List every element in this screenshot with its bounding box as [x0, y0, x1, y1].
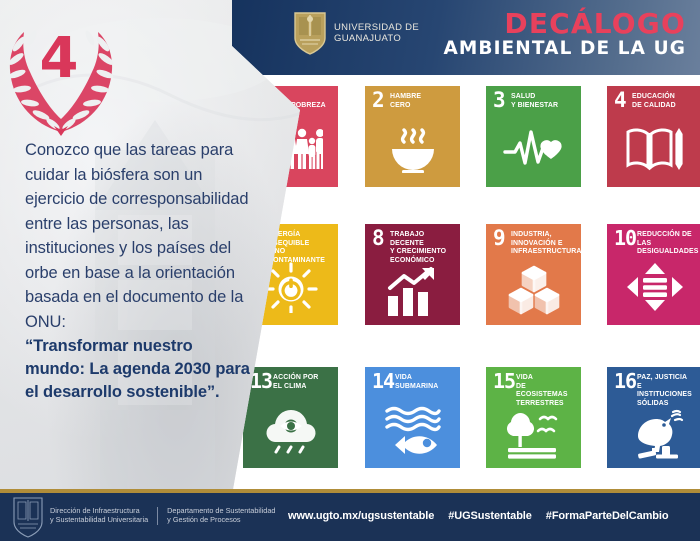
- sdg-label-line: REDUCCIÓN DE LAS: [637, 230, 695, 247]
- sdg-tile-10[interactable]: 10REDUCCIÓN DE LASDESIGUALDADES: [607, 224, 700, 325]
- footer-links: www.ugto.mx/ugsustentable #UGSustentable…: [288, 510, 669, 522]
- footer-hashtag-1[interactable]: #UGSustentable: [448, 510, 532, 522]
- body-paragraph: Conozco que las tareas para cuidar la bi…: [25, 141, 248, 331]
- heartbeat-icon: [486, 119, 581, 179]
- sdg-tile-label: VIDADE ECOSISTEMASTERRESTRES: [516, 373, 574, 407]
- sdg-tile-number: 9: [493, 228, 505, 249]
- footer-bar: Dirección de Infraestructura y Sustentab…: [0, 493, 700, 541]
- footer-dept-left-line1: Dirección de Infraestructura: [50, 506, 148, 515]
- sdg-tile-label: VIDASUBMARINA: [395, 373, 453, 390]
- title-main: DECÁLOGO: [443, 9, 686, 38]
- sdg-tile-2[interactable]: 2HAMBRECERO: [365, 86, 460, 187]
- sdg-tile-number: 10: [614, 228, 636, 249]
- sdg-label-line: DESIGUALDADES: [637, 247, 695, 256]
- sdg-label-line: SUBMARINA: [395, 382, 453, 391]
- sdg-label-line: CERO: [390, 101, 453, 110]
- footer-dept-left-line2: y Sustentabilidad Universitaria: [50, 515, 148, 524]
- sdg-tile-label: HAMBRECERO: [390, 92, 453, 109]
- footer-hashtag-2[interactable]: #FormaParteDelCambio: [546, 510, 669, 522]
- soup-bowl-icon: [365, 119, 460, 179]
- laurel-wreath-icon: [2, 14, 120, 140]
- footer-dept-right-line1: Departamento de Sustentabilidad: [167, 506, 275, 515]
- footer-dept-left: Dirección de Infraestructura y Sustentab…: [50, 506, 148, 525]
- sdg-label-line: TRABAJO DECENTE: [390, 230, 453, 247]
- sdg-tile-label: PAZ, JUSTICIAE INSTITUCIONESSÓLIDAS: [637, 373, 695, 407]
- sdg-label-line: Y BIENESTAR: [511, 101, 574, 110]
- sdg-tile-number: 15: [493, 371, 515, 392]
- sdg-tile-label: EDUCACIÓNDE CALIDAD: [632, 92, 695, 109]
- sdg-tile-16[interactable]: 16PAZ, JUSTICIAE INSTITUCIONESSÓLIDAS: [607, 367, 700, 468]
- university-name-line1: UNIVERSIDAD DE: [334, 22, 419, 33]
- sdg-tile-9[interactable]: 9INDUSTRIA,INNOVACIÓN EINFRAESTRUCTURA: [486, 224, 581, 325]
- sdg-label-line: E INSTITUCIONES: [637, 382, 695, 399]
- fish-waves-icon: [365, 400, 460, 460]
- title-sub: AMBIENTAL DE LA UG: [443, 38, 686, 60]
- ug-shield-outline-icon: [12, 495, 44, 539]
- sdg-label-line: DE CALIDAD: [632, 101, 695, 110]
- sdg-tile-number: 14: [372, 371, 394, 392]
- sdg-tile-4[interactable]: 4EDUCACIÓNDE CALIDAD: [607, 86, 700, 187]
- tree-birds-icon: [486, 407, 581, 460]
- dove-gavel-icon: [607, 407, 700, 460]
- ug-shield-icon: [293, 10, 327, 56]
- footer-departments: Dirección de Infraestructura y Sustentab…: [50, 506, 275, 525]
- body-quote: “Transformar nuestro mundo: La agenda 20…: [25, 335, 253, 404]
- university-name-line2: GUANAJUATO: [334, 33, 419, 44]
- sdg-tile-15[interactable]: 15VIDADE ECOSISTEMASTERRESTRES: [486, 367, 581, 468]
- open-book-pencil-icon: [607, 119, 700, 179]
- poster-title: DECÁLOGO AMBIENTAL DE LA UG: [443, 9, 686, 60]
- sdg-tile-13[interactable]: 13ACCIÓN POREL CLIMA: [243, 367, 338, 468]
- sdg-tile-number: 3: [493, 90, 505, 111]
- sdg-tile-number: 2: [372, 90, 384, 111]
- sdg-tile-number: 4: [614, 90, 626, 111]
- sdg-label-line: DE ECOSISTEMAS: [516, 382, 574, 399]
- growth-chart-icon: [365, 264, 460, 317]
- sdg-tile-label: SALUDY BIENESTAR: [511, 92, 574, 109]
- footer-website-link[interactable]: www.ugto.mx/ugsustentable: [288, 510, 434, 522]
- cubes-industry-icon: [486, 264, 581, 317]
- university-logo: UNIVERSIDAD DE GUANAJUATO: [293, 10, 419, 56]
- sdg-tile-8[interactable]: 8TRABAJO DECENTEY CRECIMIENTOECONÓMICO: [365, 224, 460, 325]
- footer-dept-right-line2: y Gestión de Procesos: [167, 515, 275, 524]
- sdg-tile-label: INDUSTRIA,INNOVACIÓN EINFRAESTRUCTURA: [511, 230, 574, 256]
- sdg-tile-number: 16: [614, 371, 636, 392]
- sdg-tile-label: REDUCCIÓN DE LASDESIGUALDADES: [637, 230, 695, 256]
- sdg-tile-label: TRABAJO DECENTEY CRECIMIENTOECONÓMICO: [390, 230, 453, 264]
- sdg-tile-14[interactable]: 14VIDASUBMARINA: [365, 367, 460, 468]
- body-text: Conozco que las tareas para cuidar la bi…: [25, 138, 253, 404]
- sdg-label-line: INFRAESTRUCTURA: [511, 247, 574, 256]
- sdg-tile-label: ACCIÓN POREL CLIMA: [273, 373, 331, 390]
- sdg-tile-3[interactable]: 3SALUDY BIENESTAR: [486, 86, 581, 187]
- sdg-label-line: PAZ, JUSTICIA: [637, 373, 695, 382]
- footer-dept-right: Departamento de Sustentabilidad y Gestió…: [167, 506, 275, 525]
- sdg-tile-number: 8: [372, 228, 384, 249]
- equals-arrows-icon: [607, 257, 700, 317]
- sdg-label-line: EL CLIMA: [273, 382, 331, 391]
- poster-canvas: 1FINDE LA POBREZA 2HAMBRECERO 3SALUDY BI…: [0, 0, 700, 541]
- university-name: UNIVERSIDAD DE GUANAJUATO: [334, 22, 419, 44]
- footer-divider: [157, 507, 158, 525]
- climate-eye-icon: [243, 400, 338, 460]
